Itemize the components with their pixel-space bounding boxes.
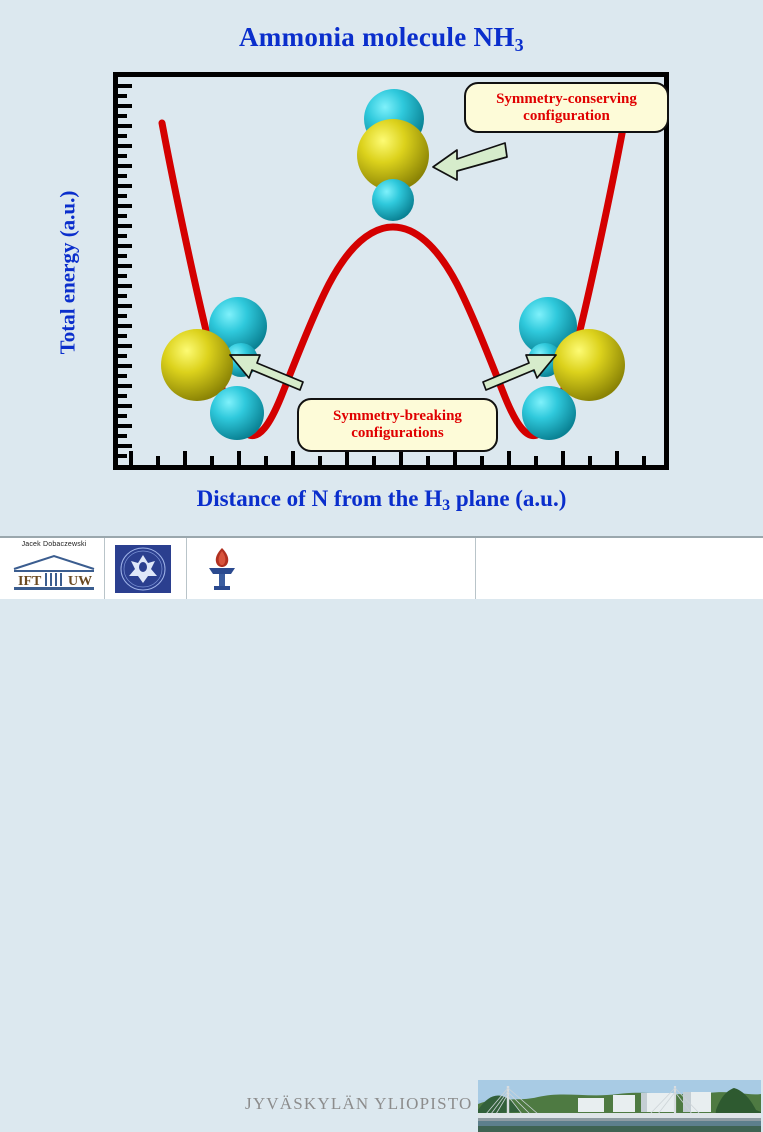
hydrogen-sphere [372, 179, 414, 221]
annotation-line2: configurations [299, 425, 496, 442]
annotation-line1: Symmetry-conserving [496, 91, 637, 107]
annotation-line2: configuration [466, 108, 667, 125]
footer-divider [475, 538, 476, 599]
annotation-symmetry-breaking: Symmetry-breaking configurations [297, 398, 498, 452]
x-axis-label-subscript: 3 [442, 497, 450, 514]
slide-footer: Jacek Dobaczewski IFT UW [0, 536, 763, 599]
hydrogen-sphere [210, 386, 264, 440]
footer-divider [186, 538, 187, 599]
jyu-torch-icon [205, 546, 239, 592]
annotation-symmetry-conserving: Symmetry-conserving configuration [464, 82, 669, 133]
svg-text:IFT: IFT [18, 574, 42, 589]
ift-uw-logo: IFT UW [12, 552, 96, 592]
page-title-main: Ammonia molecule NH [239, 22, 515, 52]
page-title: Ammonia molecule NH3 [0, 22, 763, 56]
x-axis-label: Distance of N from the H3 plane (a.u.) [0, 486, 763, 515]
y-axis-label: Total energy (a.u.) [56, 158, 81, 388]
annotation-line1: Symmetry-breaking [333, 408, 462, 424]
slide-canvas: Ammonia molecule NH3 Total energy (a.u.)… [0, 0, 763, 597]
nitrogen-sphere [553, 329, 625, 401]
x-axis-label-tail: plane (a.u.) [450, 486, 566, 511]
footer-divider [104, 538, 105, 599]
svg-text:UW: UW [68, 574, 92, 589]
jyu-university-name: JYVÄSKYLÄN YLIOPISTO [245, 1094, 473, 1114]
uw-seal-icon [115, 545, 171, 593]
author-name: Jacek Dobaczewski [10, 541, 98, 548]
hydrogen-sphere [522, 386, 576, 440]
page-title-subscript: 3 [515, 35, 524, 55]
nitrogen-sphere [161, 329, 233, 401]
x-axis-label-main: Distance of N from the H [197, 486, 443, 511]
campus-photo [478, 1080, 761, 1132]
